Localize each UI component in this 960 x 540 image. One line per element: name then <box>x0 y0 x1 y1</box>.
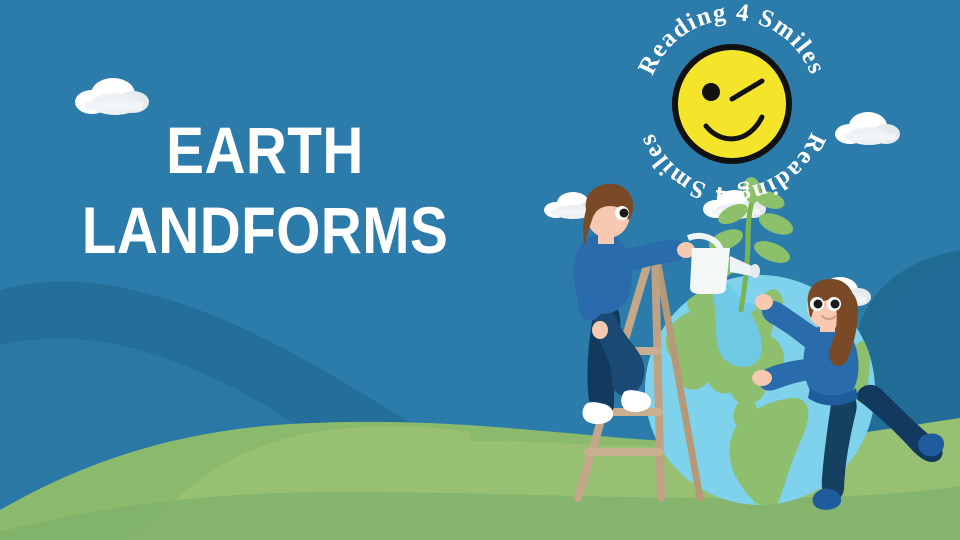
woman-pupil-right <box>831 300 840 309</box>
slide-canvas: EARTH LANDFORMS Reading 4 Smiles Reading… <box>0 0 960 540</box>
smiley-face-icon <box>675 47 789 161</box>
smiley-eye-left <box>702 83 720 101</box>
woman-hand-upper <box>755 294 773 310</box>
reading-4-smiles-logo[interactable]: Reading 4 Smiles Reading 4 Smiles <box>632 4 832 204</box>
watering-can-nozzle <box>750 264 760 278</box>
woman-pupil-left <box>814 300 823 309</box>
woman-hand-lower <box>752 370 772 386</box>
man-pupil <box>620 209 629 218</box>
man-hand-left <box>592 321 608 339</box>
watering-can-body <box>690 248 730 294</box>
